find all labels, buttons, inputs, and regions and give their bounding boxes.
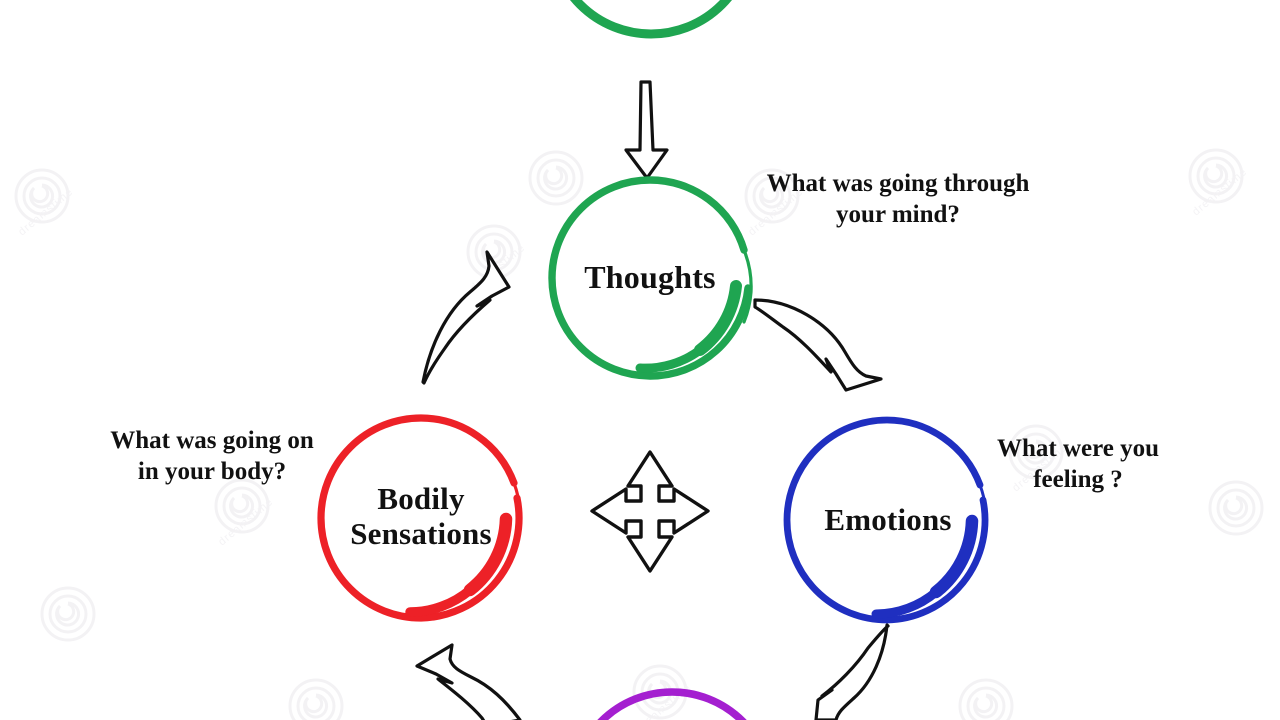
question-bodily-sensations: What was going on in your body? [78, 425, 346, 488]
node-circle-bodily-sensations [321, 418, 520, 618]
curved-arrow-up-left-icon [417, 645, 520, 720]
four-way-arrow-icon [592, 452, 708, 571]
curved-arrow-down-right-icon [755, 300, 881, 390]
question-thoughts: What was going through your mind? [738, 168, 1058, 231]
arrow-down-icon [626, 82, 667, 178]
node-circle-emotions [787, 420, 986, 620]
question-emotions: What were you feeling ? [965, 433, 1191, 496]
diagram-vector-layer: dreamstime dreamstime dreamstime dreamst… [0, 0, 1280, 720]
diagram-canvas: dreamstime dreamstime dreamstime dreamst… [0, 0, 1280, 720]
node-circle-top-partial [551, 0, 751, 34]
curved-arrow-down-left-icon [816, 625, 888, 720]
node-circle-thoughts [552, 180, 751, 376]
curved-arrow-up-right-icon [423, 252, 509, 383]
